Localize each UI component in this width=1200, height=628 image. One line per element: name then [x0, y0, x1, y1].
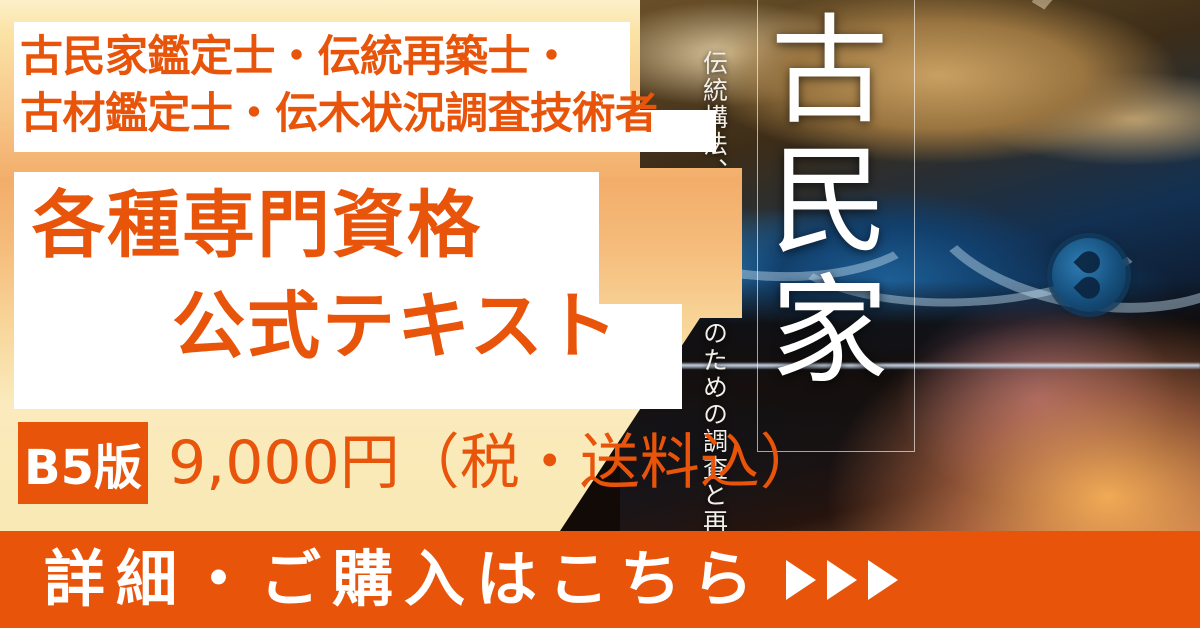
- cta-bar[interactable]: 詳細・ご購入はこちら: [0, 531, 1200, 628]
- triangle-right-icon: [868, 560, 898, 600]
- carving-swirl-icon: [990, 0, 1200, 171]
- triangle-right-icon: [827, 560, 857, 600]
- qualifications-line-2: 古材鑑定士・伝木状況調査技術者: [20, 87, 720, 144]
- qualifications-line-1: 古民家鑑定士・伝統再築士・: [20, 30, 720, 87]
- book-cover-title: 古民家: [770, 8, 890, 448]
- wave-carving-icon: [907, 94, 1200, 336]
- family-crest-icon: [1052, 238, 1126, 312]
- qualifications-text: 古民家鑑定士・伝統再築士・ 古材鑑定士・伝木状況調査技術者: [20, 30, 720, 144]
- promotional-banner: 古民家 伝統構法、古民家活用のための調査と再生の 古民家鑑定士・伝統再築士・ 古…: [0, 0, 1200, 628]
- triangle-right-icon: [786, 560, 816, 600]
- headline-text: 各種専門資格 公式テキスト: [14, 176, 686, 377]
- headline-line-1: 各種専門資格: [14, 176, 686, 277]
- cta-label: 詳細・ご購入はこちら: [44, 531, 764, 628]
- cta-arrows: [786, 560, 898, 600]
- headline-line-2: 公式テキスト: [14, 277, 686, 378]
- format-badge: B5版: [18, 422, 148, 504]
- price-text: 9,000円（税・送料込）: [168, 424, 820, 502]
